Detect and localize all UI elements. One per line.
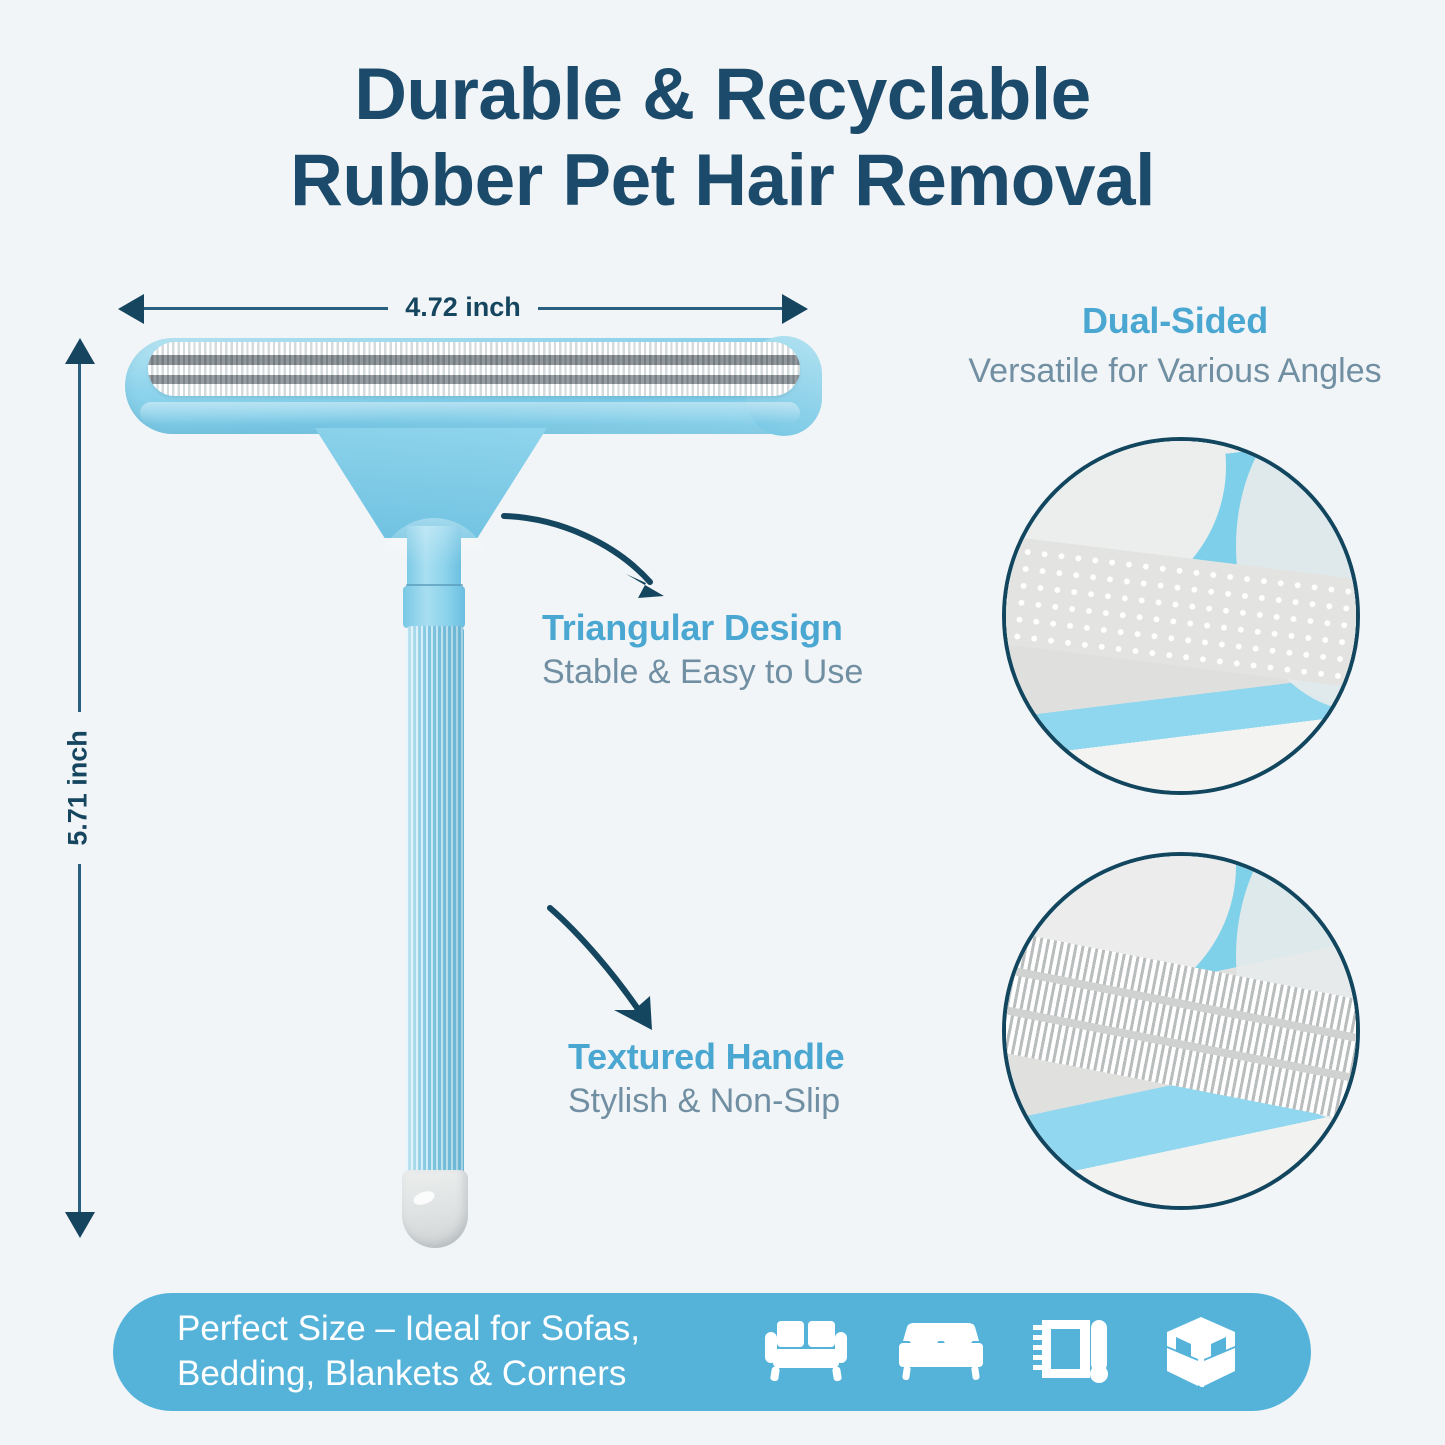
ribbed-rubber-closeup [1002, 852, 1360, 1210]
callout-heading: Textured Handle [568, 1036, 844, 1078]
page-title: Durable & Recyclable Rubber Pet Hair Rem… [0, 52, 1445, 224]
width-dimension-label-wrap: 4.72 inch [118, 287, 808, 318]
callout-textured-handle: Textured Handle Stylish & Non-Slip [568, 1036, 844, 1121]
corner-icon [1163, 1315, 1239, 1389]
perfect-size-banner: Perfect Size – Ideal for Sofas, Bedding,… [113, 1293, 1311, 1411]
callout-subtext: Stable & Easy to Use [542, 653, 863, 692]
title-line-1: Durable & Recyclable [354, 54, 1091, 135]
height-dimension: 5.71 inch [58, 338, 102, 1238]
arrow-up-icon [65, 338, 95, 364]
bed-icon [895, 1321, 987, 1383]
head-highlight [140, 402, 800, 424]
dual-sided-panel: Dual-Sided Versatile for Various Angles [905, 300, 1445, 391]
dual-sided-subtext: Versatile for Various Angles [905, 352, 1445, 391]
handle-collar [403, 586, 465, 628]
callout-heading: Triangular Design [542, 607, 863, 649]
arrow-down-icon [65, 1212, 95, 1238]
curved-arrow-to-triangular-design [498, 500, 688, 610]
rug-icon [1033, 1319, 1117, 1385]
banner-text: Perfect Size – Ideal for Sofas, Bedding,… [177, 1307, 640, 1397]
infographic-canvas: Durable & Recyclable Rubber Pet Hair Rem… [0, 0, 1445, 1445]
handle-shading [406, 626, 464, 1186]
dual-sided-heading: Dual-Sided [905, 300, 1445, 342]
banner-icon-row [763, 1315, 1239, 1389]
height-dimension-label-wrap: 5.71 inch [63, 608, 94, 968]
handle-end-cap [402, 1170, 468, 1248]
banner-line-1: Perfect Size – Ideal for Sofas, [177, 1307, 640, 1352]
sofa-icon [763, 1319, 849, 1385]
banner-line-2: Bedding, Blankets & Corners [177, 1352, 640, 1397]
width-dimension: 4.72 inch [118, 287, 808, 331]
callout-subtext: Stylish & Non-Slip [568, 1082, 844, 1121]
title-line-2: Rubber Pet Hair Removal [0, 138, 1445, 224]
rubber-strip [148, 342, 800, 396]
curved-arrow-to-textured-handle [528, 898, 698, 1038]
callout-triangular-design: Triangular Design Stable & Easy to Use [542, 607, 863, 692]
dotted-rubber-closeup [1002, 437, 1360, 795]
height-dimension-label: 5.71 inch [63, 712, 94, 864]
width-dimension-label: 4.72 inch [388, 292, 538, 323]
